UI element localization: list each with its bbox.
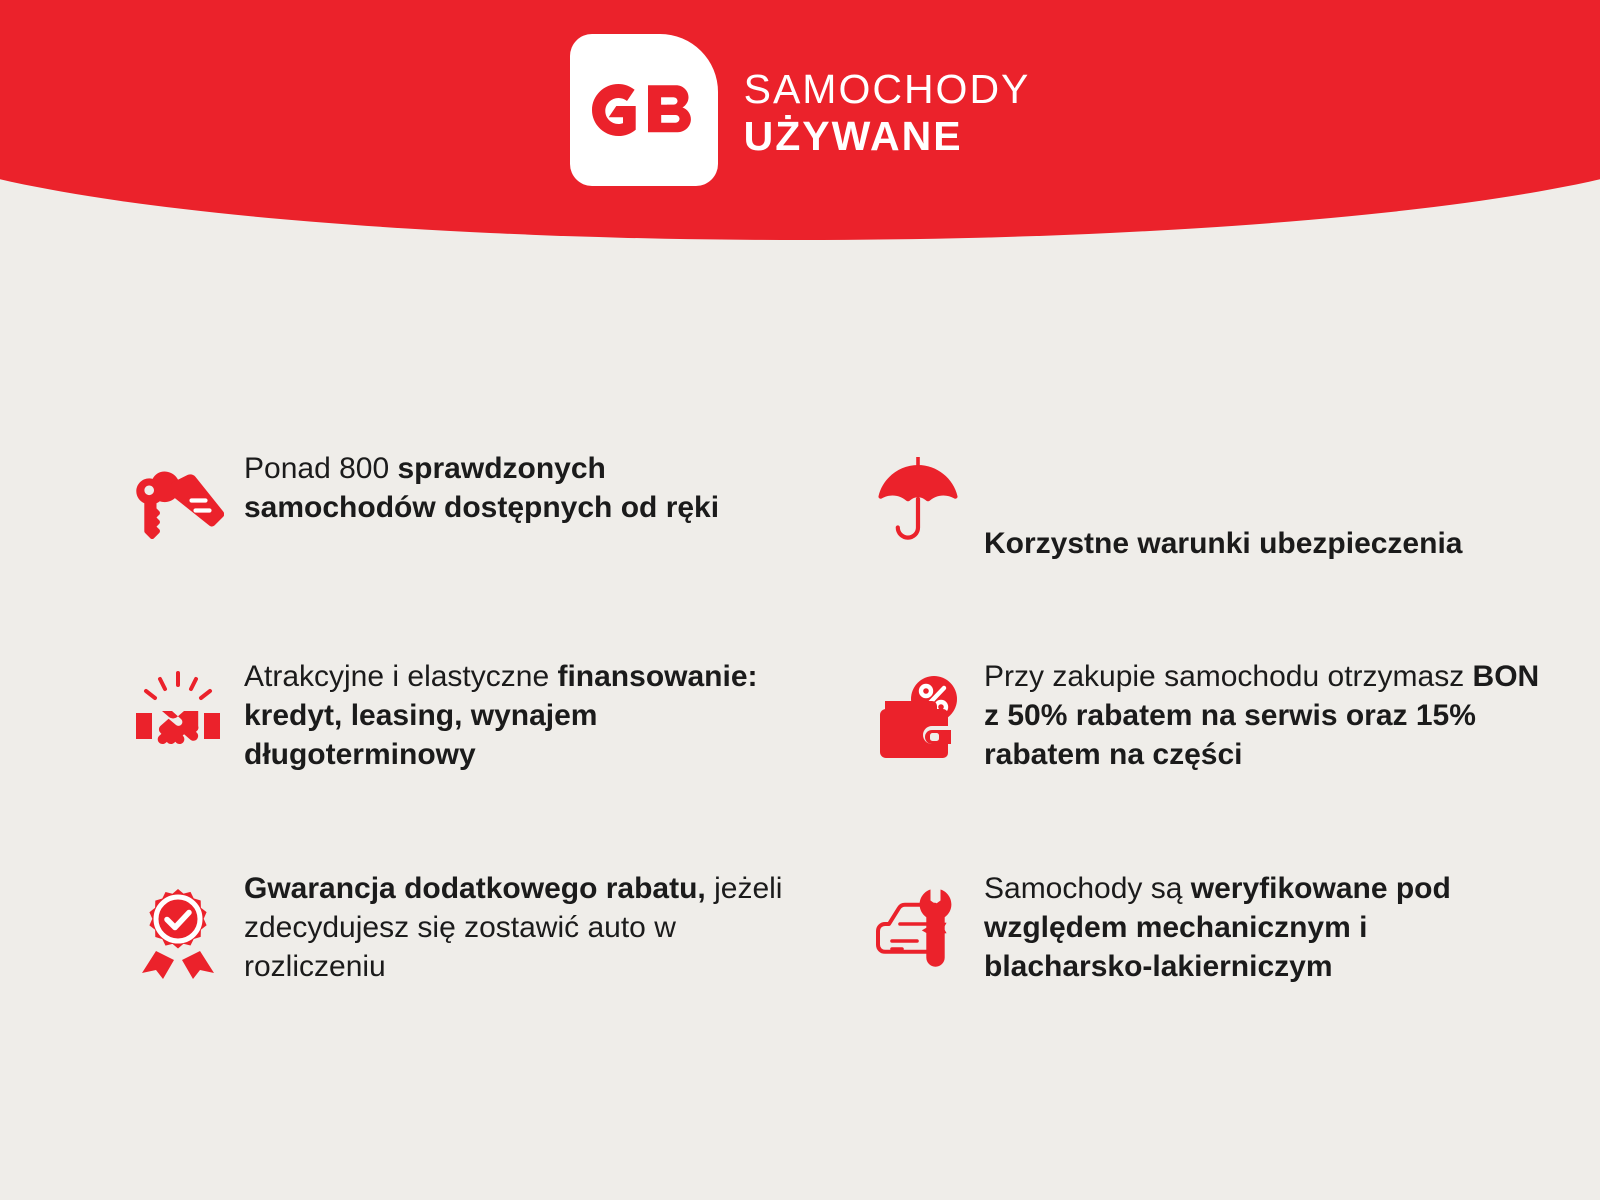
feature-umbrella-bold: Korzystne warunki ubezpieczenia: [984, 527, 1462, 560]
feature-item-keys: Ponad 800 sprawdzonych samochodów dostęp…: [130, 447, 850, 637]
handshake-icon: [130, 667, 226, 763]
feature-text-keys: Ponad 800 sprawdzonych samochodów dostęp…: [244, 447, 804, 527]
brand-line-1: SAMOCHODY: [744, 69, 1031, 110]
brand-lockup: SAMOCHODY UŻYWANE: [570, 34, 1031, 186]
feature-text-financing: Atrakcyjne i elastyczne finansowanie: kr…: [244, 655, 804, 774]
feature-guarantee-bold: Gwarancja dodatkowego rabatu,: [244, 872, 706, 905]
car-wrench-gear-icon: [870, 877, 966, 973]
feature-item-guarantee: Gwarancja dodatkowego rabatu, jeżeli zde…: [130, 867, 850, 1057]
feature-item-financing: Atrakcyjne i elastyczne finansowanie: kr…: [130, 655, 850, 845]
feature-keys-plain: Ponad 800: [244, 452, 397, 485]
feature-financing-plain: Atrakcyjne i elastyczne: [244, 660, 557, 693]
gb-logo-letters-icon: [592, 84, 696, 136]
car-keys-icon: [130, 457, 226, 553]
umbrella-icon: [870, 451, 966, 547]
feature-item-voucher: Przy zakupie samochodu otrzymasz BON z 5…: [870, 655, 1590, 845]
feature-text-umbrella: Korzystne warunki ubezpieczenia: [984, 522, 1544, 563]
feature-text-voucher: Przy zakupie samochodu otrzymasz BON z 5…: [984, 655, 1544, 774]
feature-text-verified: Samochody są weryfikowane pod względem m…: [984, 867, 1544, 986]
features-grid: Ponad 800 sprawdzonych samochodów dostęp…: [0, 425, 1600, 1057]
feature-item-umbrella: Korzystne warunki ubezpieczenia: [870, 447, 1590, 637]
feature-text-guarantee: Gwarancja dodatkowego rabatu, jeżeli zde…: [244, 867, 804, 986]
feature-verified-plain: Samochody są: [984, 872, 1191, 905]
poster-root: SAMOCHODY UŻYWANE: [0, 0, 1600, 1200]
brand-wordmark: SAMOCHODY UŻYWANE: [744, 63, 1031, 157]
header: SAMOCHODY UŻYWANE: [0, 0, 1600, 250]
award-badge-icon: [130, 885, 226, 981]
gb-logo-mark: [570, 34, 718, 186]
brand-line-2: UŻYWANE: [744, 116, 1031, 157]
feature-voucher-plain: Przy zakupie samochodu otrzymasz: [984, 660, 1473, 693]
feature-item-verified: Samochody są weryfikowane pod względem m…: [870, 867, 1590, 1057]
wallet-percent-icon: [870, 669, 966, 765]
